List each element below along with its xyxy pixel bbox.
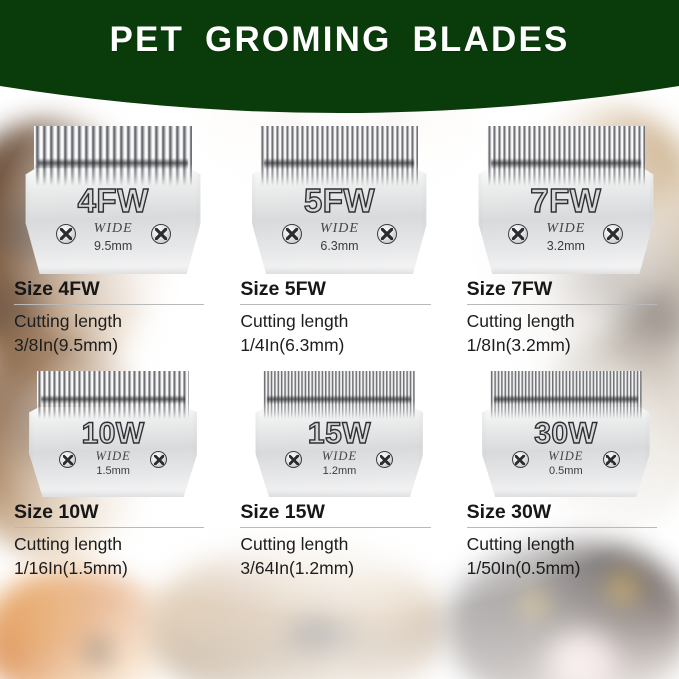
blade-wide-engraving: WIDE [26,221,201,237]
caption-divider [467,527,657,528]
blade-wide-engraving: WIDE [252,221,427,237]
blade-caption-line-2: 1/8In(3.2mm) [467,334,665,357]
blade-caption-line-1: Cutting length [467,310,665,333]
blade-row-2: 10W WIDE 1.5mm Size 10W Cutting length 1… [0,371,679,611]
blade-screw-left-icon [56,224,76,244]
caption-divider [240,527,430,528]
header-banner: PET GROMING BLADES [0,0,679,122]
blade-teeth [34,126,192,186]
blade-card-4fw[interactable]: 4FW WIDE 9.5mm Size 4FW Cutting length 3… [0,126,226,371]
blade-screw-right-icon [151,224,171,244]
blade-graphic: 4FW WIDE 9.5mm [26,126,201,274]
blade-grid: 4FW WIDE 9.5mm Size 4FW Cutting length 3… [0,126,679,611]
blade-caption-line-2: 1/50In(0.5mm) [467,557,665,580]
blade-image-7fw: 7FW WIDE 3.2mm [463,126,669,278]
page-title: PET GROMING BLADES [0,20,679,60]
blade-card-5fw[interactable]: 5FW WIDE 6.3mm Size 5FW Cutting length 1… [226,126,452,371]
blade-image-30w: 30W WIDE 0.5mm [463,371,669,501]
blade-caption-5fw: Size 5FW Cutting length 1/4In(6.3mm) [236,278,442,357]
blade-cutting-edge-shadow [267,395,411,404]
blade-mm-engraving: 9.5mm [26,239,201,253]
blade-size-engraving: 10W [29,417,197,451]
blade-graphic: 30W WIDE 0.5mm [482,371,650,495]
blade-caption-line-2: 3/8In(9.5mm) [14,334,212,357]
blade-screw-right-icon [603,451,620,468]
blade-image-10w: 10W WIDE 1.5mm [10,371,216,501]
blade-caption-title: Size 30W [467,501,665,523]
blade-caption-10w: Size 10W Cutting length 1/16In(1.5mm) [10,501,216,580]
blade-cutting-edge-shadow [41,395,185,404]
blade-image-4fw: 4FW WIDE 9.5mm [10,126,216,278]
blade-caption-title: Size 15W [240,501,438,523]
blade-caption-line-1: Cutting length [14,310,212,333]
blade-graphic: 15W WIDE 1.2mm [255,371,423,495]
blade-wide-engraving: WIDE [478,221,653,237]
blade-mm-engraving: 6.3mm [252,239,427,253]
blade-mm-engraving: 3.2mm [478,239,653,253]
blade-caption-line-2: 1/16In(1.5mm) [14,557,212,580]
blade-caption-4fw: Size 4FW Cutting length 3/8In(9.5mm) [10,278,216,357]
blade-caption-line-1: Cutting length [240,533,438,556]
blade-teeth [487,126,645,186]
blade-caption-30w: Size 30W Cutting length 1/50In(0.5mm) [463,501,669,580]
header-banner-shape [0,0,679,122]
blade-screw-right-icon [377,224,397,244]
blade-caption-title: Size 4FW [14,278,212,300]
blade-size-engraving: 30W [482,417,650,451]
blade-size-engraving: 15W [255,417,423,451]
blade-card-10w[interactable]: 10W WIDE 1.5mm Size 10W Cutting length 1… [0,371,226,611]
blade-caption-line-2: 3/64In(1.2mm) [240,557,438,580]
blade-graphic: 10W WIDE 1.5mm [29,371,197,495]
blade-screw-left-icon [512,451,529,468]
blade-graphic: 5FW WIDE 6.3mm [252,126,427,274]
blade-size-engraving: 5FW [252,182,427,220]
blade-mm-engraving: 0.5mm [482,465,650,477]
blade-mm-engraving: 1.2mm [255,465,423,477]
blade-caption-line-1: Cutting length [240,310,438,333]
blade-row-1: 4FW WIDE 9.5mm Size 4FW Cutting length 3… [0,126,679,371]
blade-cutting-edge-shadow [491,158,641,169]
caption-divider [14,527,204,528]
caption-divider [467,304,657,305]
product-infographic: PET GROMING BLADES 4FW WIDE 9.5mm [0,0,679,679]
blade-card-30w[interactable]: 30W WIDE 0.5mm Size 30W Cutting length 1… [453,371,679,611]
blade-cutting-edge-shadow [264,158,414,169]
blade-screw-left-icon [282,224,302,244]
blade-cutting-edge-shadow [494,395,638,404]
blade-size-engraving: 7FW [478,182,653,220]
blade-mm-engraving: 1.5mm [29,465,197,477]
blade-caption-line-1: Cutting length [14,533,212,556]
blade-wide-engraving: WIDE [482,449,650,464]
blade-caption-7fw: Size 7FW Cutting length 1/8In(3.2mm) [463,278,669,357]
blade-cutting-edge-shadow [38,158,188,169]
blade-size-engraving: 4FW [26,182,201,220]
blade-image-5fw: 5FW WIDE 6.3mm [236,126,442,278]
blade-card-7fw[interactable]: 7FW WIDE 3.2mm Size 7FW Cutting length 1… [453,126,679,371]
blade-wide-engraving: WIDE [255,449,423,464]
caption-divider [240,304,430,305]
blade-caption-title: Size 5FW [240,278,438,300]
blade-caption-line-1: Cutting length [467,533,665,556]
blade-wide-engraving: WIDE [29,449,197,464]
blade-caption-title: Size 7FW [467,278,665,300]
blade-image-15w: 15W WIDE 1.2mm [236,371,442,501]
blade-caption-line-2: 1/4In(6.3mm) [240,334,438,357]
blade-teeth [260,126,418,186]
blade-caption-15w: Size 15W Cutting length 3/64In(1.2mm) [236,501,442,580]
blade-caption-title: Size 10W [14,501,212,523]
blade-graphic: 7FW WIDE 3.2mm [478,126,653,274]
blade-card-15w[interactable]: 15W WIDE 1.2mm Size 15W Cutting length 3… [226,371,452,611]
caption-divider [14,304,204,305]
